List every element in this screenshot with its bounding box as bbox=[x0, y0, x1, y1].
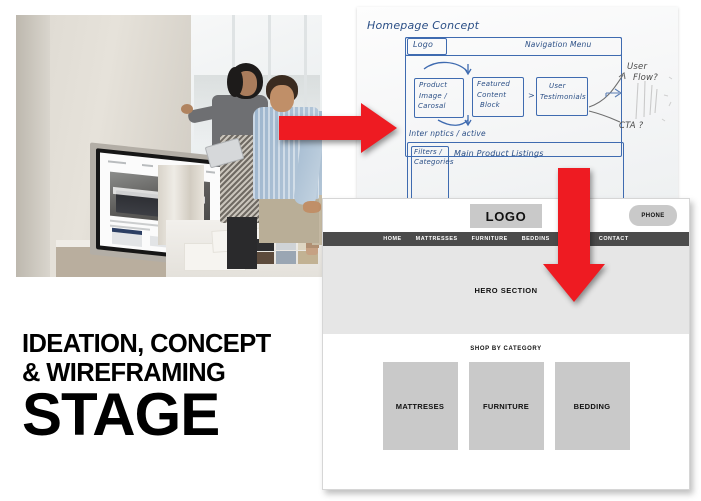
wireframe-mockup-panel: LOGO PHONE HOME MATTRESSES FURNITURE BED… bbox=[322, 198, 690, 490]
caption-block: IDEATION, CONCEPT & WIREFRAMING STAGE bbox=[22, 330, 312, 445]
wireframe-category-bedding[interactable]: BEDDING bbox=[555, 362, 630, 450]
caption-line-1: IDEATION, CONCEPT bbox=[22, 330, 312, 359]
wireframe-logo-block: LOGO bbox=[470, 204, 542, 228]
woman-hair-front bbox=[227, 67, 243, 97]
wireframe-nav-item-furniture[interactable]: FURNITURE bbox=[472, 236, 508, 242]
photo-wall-shadow bbox=[16, 15, 50, 277]
wireframe-hero-label: HERO SECTION bbox=[474, 286, 537, 295]
wireframe-nav-item-mattresses[interactable]: MATTRESSES bbox=[416, 236, 458, 242]
wireframe-phone-button[interactable]: PHONE bbox=[629, 205, 677, 226]
office-photo bbox=[16, 15, 322, 277]
woman-hand bbox=[181, 104, 193, 114]
slide-canvas: Homepage Concept Logo Navigation Menu Pr… bbox=[0, 0, 701, 501]
wireframe-nav-item-home[interactable]: HOME bbox=[383, 236, 401, 242]
wireframe-header: LOGO PHONE bbox=[323, 199, 689, 232]
down-arrow-icon bbox=[543, 168, 605, 304]
wireframe-category-grid: MATTRESES FURNITURE BEDDING bbox=[323, 362, 689, 450]
wireframe-category-mattreses[interactable]: MATTRESES bbox=[383, 362, 458, 450]
material-swatch bbox=[276, 251, 296, 264]
wireframe-category-title: SHOP BY CATEGORY bbox=[323, 346, 689, 352]
woman-legs bbox=[227, 217, 257, 269]
wireframe-hero-section: HERO SECTION bbox=[323, 246, 689, 334]
man-hand bbox=[303, 201, 321, 213]
wireframe-navbar: HOME MATTRESSES FURNITURE BEDDINS DEALS … bbox=[323, 232, 689, 246]
wireframe-category-furniture[interactable]: FURNITURE bbox=[469, 362, 544, 450]
caption-line-3: STAGE bbox=[22, 385, 312, 445]
right-arrow-icon bbox=[279, 103, 399, 153]
